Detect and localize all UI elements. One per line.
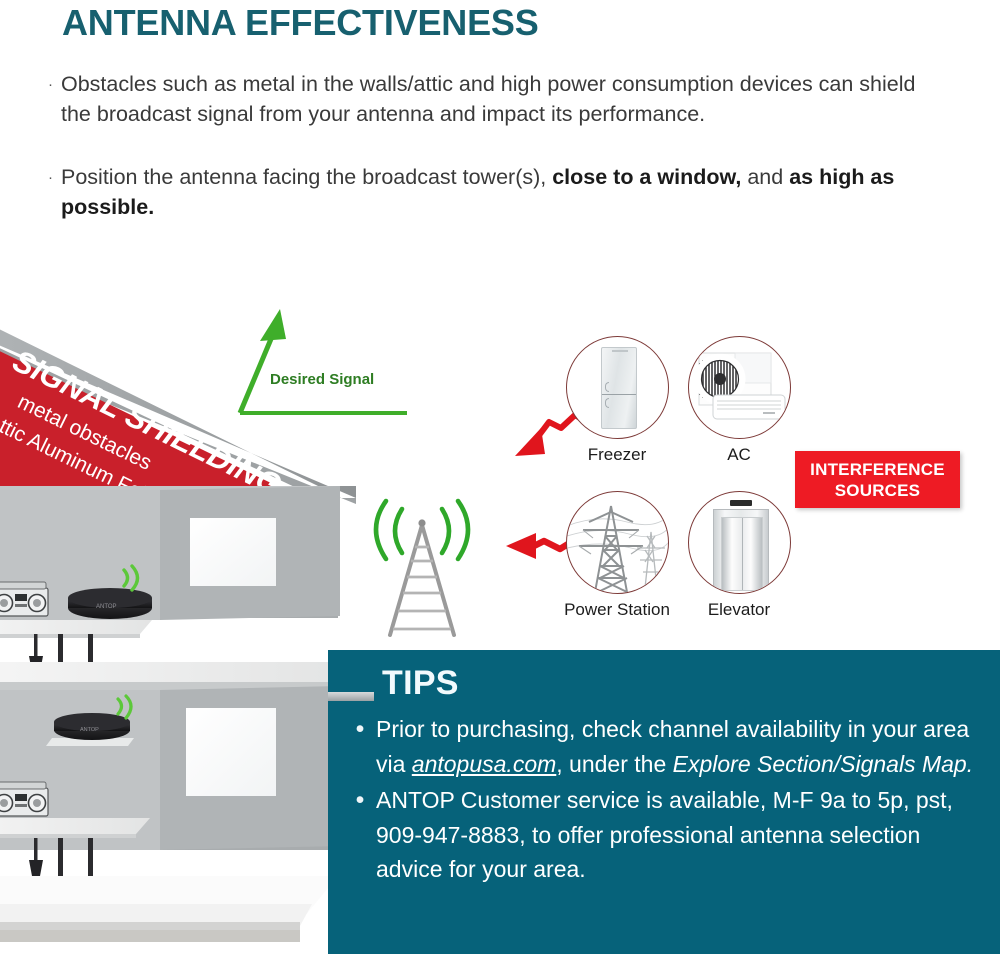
page-title: ANTENNA EFFECTIVENESS — [62, 2, 539, 44]
svg-text:ANTOP: ANTOP — [96, 604, 117, 610]
boombox-icon — [0, 782, 48, 816]
badge-line-2: SOURCES — [835, 480, 920, 501]
bullet-segment-bold: close to a window, — [552, 165, 741, 189]
tip-segment: ANTOP Customer service is available, M-F… — [376, 787, 953, 882]
refrigerator-icon — [566, 336, 669, 439]
source-label: AC — [684, 445, 794, 465]
tip-text-2: ANTOP Customer service is available, M-F… — [376, 783, 992, 887]
bullet-marker: · — [48, 163, 61, 192]
source-item-ac: AC — [684, 336, 794, 465]
source-label: Elevator — [684, 600, 794, 620]
power-pylon-icon — [566, 491, 669, 594]
antopusa-link[interactable]: antopusa.com — [412, 751, 556, 777]
list-item: • ANTOP Customer service is available, M… — [344, 783, 992, 887]
tips-tab-marker — [328, 692, 374, 701]
badge-line-1: INTERFERENCE — [810, 459, 945, 480]
source-item-power-station: Power Station — [562, 491, 672, 620]
bullet-segment: Obstacles such as metal in the walls/att… — [61, 72, 915, 126]
desired-signal-label: Desired Signal — [270, 371, 374, 388]
list-item: · Position the antenna facing the broadc… — [48, 163, 948, 222]
tip-text-1: Prior to purchasing, check channel avail… — [376, 712, 992, 781]
tip-segment: , under the — [556, 751, 672, 777]
source-label: Freezer — [562, 445, 672, 465]
svg-text:ANTOP: ANTOP — [80, 727, 99, 733]
interference-sources-grid: Freezer — [556, 336, 786, 636]
list-item: · Obstacles such as metal in the walls/a… — [48, 70, 948, 129]
tips-panel: TIPS • Prior to purchasing, check channe… — [328, 650, 1000, 954]
bullet-segment: Position the antenna facing the broadcas… — [61, 165, 552, 189]
tip-bullet-marker: • — [344, 712, 376, 747]
infographic-page: ANTENNA EFFECTIVENESS · Obstacles such a… — [0, 0, 1000, 954]
source-item-freezer: Freezer — [562, 336, 672, 465]
source-label: Power Station — [562, 600, 672, 620]
tip-segment-italic: Explore Section/Signals Map. — [673, 751, 973, 777]
source-item-elevator: Elevator — [684, 491, 794, 620]
bullet-segment: and — [741, 165, 789, 189]
broadcast-tower-icon — [368, 495, 493, 650]
bullet-text-1: Obstacles such as metal in the walls/att… — [61, 70, 948, 129]
antenna-device-icon: ANTOP — [54, 713, 130, 740]
bullet-text-2: Position the antenna facing the broadcas… — [61, 163, 948, 222]
interference-sources-badge: INTERFERENCE SOURCES — [795, 451, 960, 508]
desired-signal-group: Desired Signal — [232, 305, 412, 420]
list-item: • Prior to purchasing, check channel ava… — [344, 712, 992, 781]
antenna-device-icon: ANTOP — [68, 588, 152, 619]
boombox-icon — [0, 582, 48, 616]
desired-signal-arrow-icon — [232, 305, 412, 420]
tip-bullet-marker: • — [344, 783, 376, 818]
tips-list: • Prior to purchasing, check channel ava… — [344, 712, 992, 889]
tips-title: TIPS — [382, 664, 459, 703]
bullet-marker: · — [48, 70, 61, 99]
air-conditioner-icon — [688, 336, 791, 439]
intro-bullet-list: · Obstacles such as metal in the walls/a… — [48, 70, 948, 244]
elevator-icon — [688, 491, 791, 594]
